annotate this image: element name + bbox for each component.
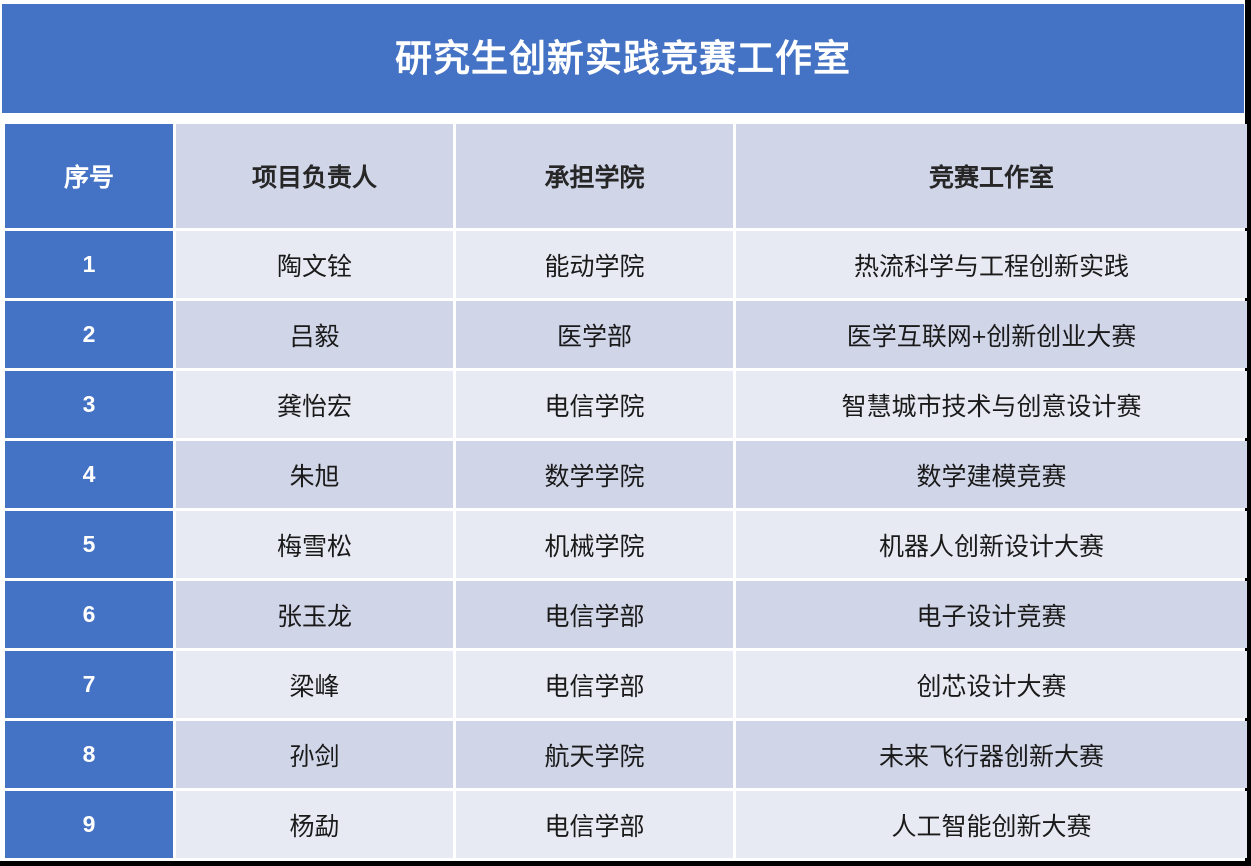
cell-leader: 吕毅 xyxy=(176,301,453,368)
cell-college: 电信学部 xyxy=(456,651,733,718)
table-row: 1陶文铨能动学院热流科学与工程创新实践 xyxy=(5,231,1247,298)
cell-leader: 孙剑 xyxy=(176,721,453,788)
table-row: 9杨勐电信学部人工智能创新大赛 xyxy=(5,791,1247,858)
cell-college: 医学部 xyxy=(456,301,733,368)
cell-index: 6 xyxy=(5,581,173,648)
cell-college: 电信学部 xyxy=(456,791,733,858)
cell-index: 1 xyxy=(5,231,173,298)
cell-college: 电信学院 xyxy=(456,371,733,438)
column-header-college: 承担学院 xyxy=(456,124,733,228)
cell-leader: 张玉龙 xyxy=(176,581,453,648)
cell-index: 3 xyxy=(5,371,173,438)
document-body: 研究生创新实践竞赛工作室 序号 项目负责人 承担学院 竞赛工作室 1陶文铨能动学… xyxy=(2,4,1244,858)
cell-college: 数学学院 xyxy=(456,441,733,508)
cell-index: 9 xyxy=(5,791,173,858)
cell-index: 2 xyxy=(5,301,173,368)
cell-college: 机械学院 xyxy=(456,511,733,578)
cell-index: 7 xyxy=(5,651,173,718)
column-header-leader: 项目负责人 xyxy=(176,124,453,228)
cell-studio: 人工智能创新大赛 xyxy=(736,791,1247,858)
cell-index: 4 xyxy=(5,441,173,508)
table-header: 序号 项目负责人 承担学院 竞赛工作室 xyxy=(5,124,1247,228)
cell-index: 5 xyxy=(5,511,173,578)
cell-leader: 陶文铨 xyxy=(176,231,453,298)
table-row: 2吕毅医学部医学互联网+创新创业大赛 xyxy=(5,301,1247,368)
table-row: 3龚怡宏电信学院智慧城市技术与创意设计赛 xyxy=(5,371,1247,438)
cell-studio: 数学建模竞赛 xyxy=(736,441,1247,508)
table-row: 8孙剑航天学院未来飞行器创新大赛 xyxy=(5,721,1247,788)
table-body: 1陶文铨能动学院热流科学与工程创新实践2吕毅医学部医学互联网+创新创业大赛3龚怡… xyxy=(5,231,1247,858)
cell-college: 电信学部 xyxy=(456,581,733,648)
cell-studio: 电子设计竞赛 xyxy=(736,581,1247,648)
table-row: 4朱旭数学学院数学建模竞赛 xyxy=(5,441,1247,508)
column-header-no: 序号 xyxy=(5,124,173,228)
cell-studio: 创芯设计大赛 xyxy=(736,651,1247,718)
table-row: 5梅雪松机械学院机器人创新设计大赛 xyxy=(5,511,1247,578)
cell-leader: 杨勐 xyxy=(176,791,453,858)
cell-leader: 龚怡宏 xyxy=(176,371,453,438)
cell-studio: 未来飞行器创新大赛 xyxy=(736,721,1247,788)
competition-studio-table: 序号 项目负责人 承担学院 竞赛工作室 1陶文铨能动学院热流科学与工程创新实践2… xyxy=(2,121,1250,861)
cell-college: 航天学院 xyxy=(456,721,733,788)
table-header-row: 序号 项目负责人 承担学院 竞赛工作室 xyxy=(5,124,1247,228)
cell-leader: 梁峰 xyxy=(176,651,453,718)
page-title: 研究生创新实践竞赛工作室 xyxy=(395,40,851,77)
cell-studio: 机器人创新设计大赛 xyxy=(736,511,1247,578)
table-row: 7梁峰电信学部创芯设计大赛 xyxy=(5,651,1247,718)
cell-index: 8 xyxy=(5,721,173,788)
table-row: 6张玉龙电信学部电子设计竞赛 xyxy=(5,581,1247,648)
column-header-studio: 竞赛工作室 xyxy=(736,124,1247,228)
cell-studio: 智慧城市技术与创意设计赛 xyxy=(736,371,1247,438)
page-root: 研究生创新实践竞赛工作室 序号 项目负责人 承担学院 竞赛工作室 1陶文铨能动学… xyxy=(0,0,1251,866)
cell-studio: 热流科学与工程创新实践 xyxy=(736,231,1247,298)
cell-college: 能动学院 xyxy=(456,231,733,298)
title-banner: 研究生创新实践竞赛工作室 xyxy=(2,4,1244,113)
cell-leader: 梅雪松 xyxy=(176,511,453,578)
cell-studio: 医学互联网+创新创业大赛 xyxy=(736,301,1247,368)
cell-leader: 朱旭 xyxy=(176,441,453,508)
